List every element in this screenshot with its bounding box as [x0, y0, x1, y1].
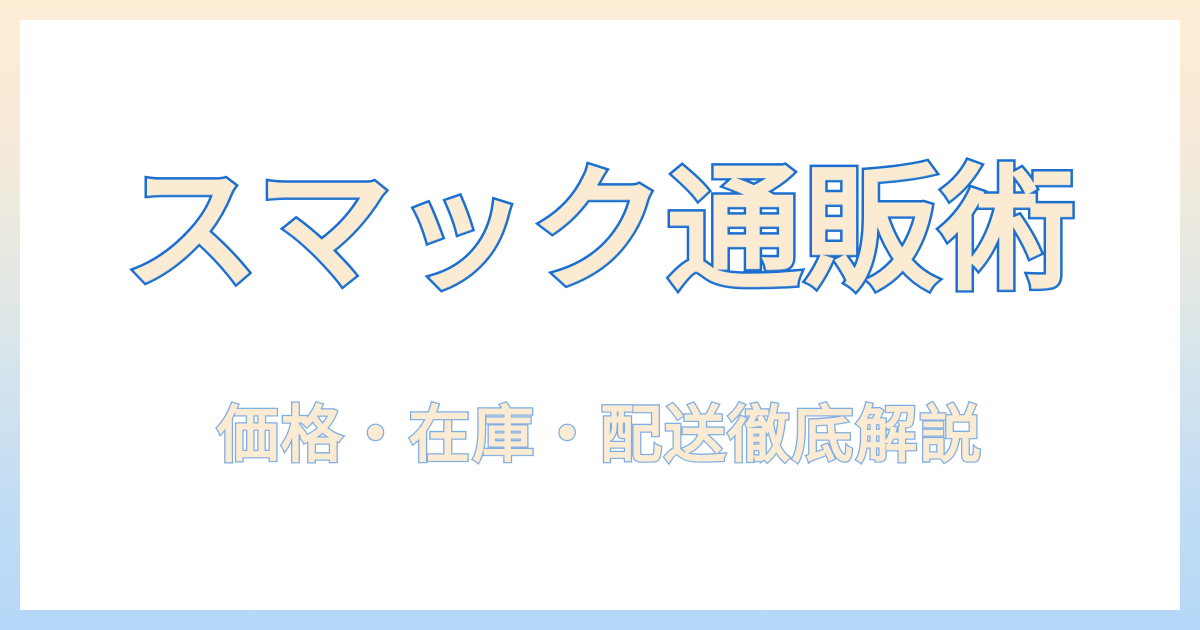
- eyecatch-canvas: スマック通販術 価格・在庫・配送徹底解説: [0, 0, 1200, 630]
- title-block: スマック通販術: [20, 131, 1180, 331]
- page-title: スマック通販術: [20, 131, 1180, 331]
- content-card: スマック通販術 価格・在庫・配送徹底解説: [20, 20, 1180, 610]
- subtitle-block: 価格・在庫・配送徹底解説: [20, 387, 1180, 483]
- page-subtitle: 価格・在庫・配送徹底解説: [20, 387, 1180, 483]
- text-stack: スマック通販術 価格・在庫・配送徹底解説: [20, 147, 1180, 483]
